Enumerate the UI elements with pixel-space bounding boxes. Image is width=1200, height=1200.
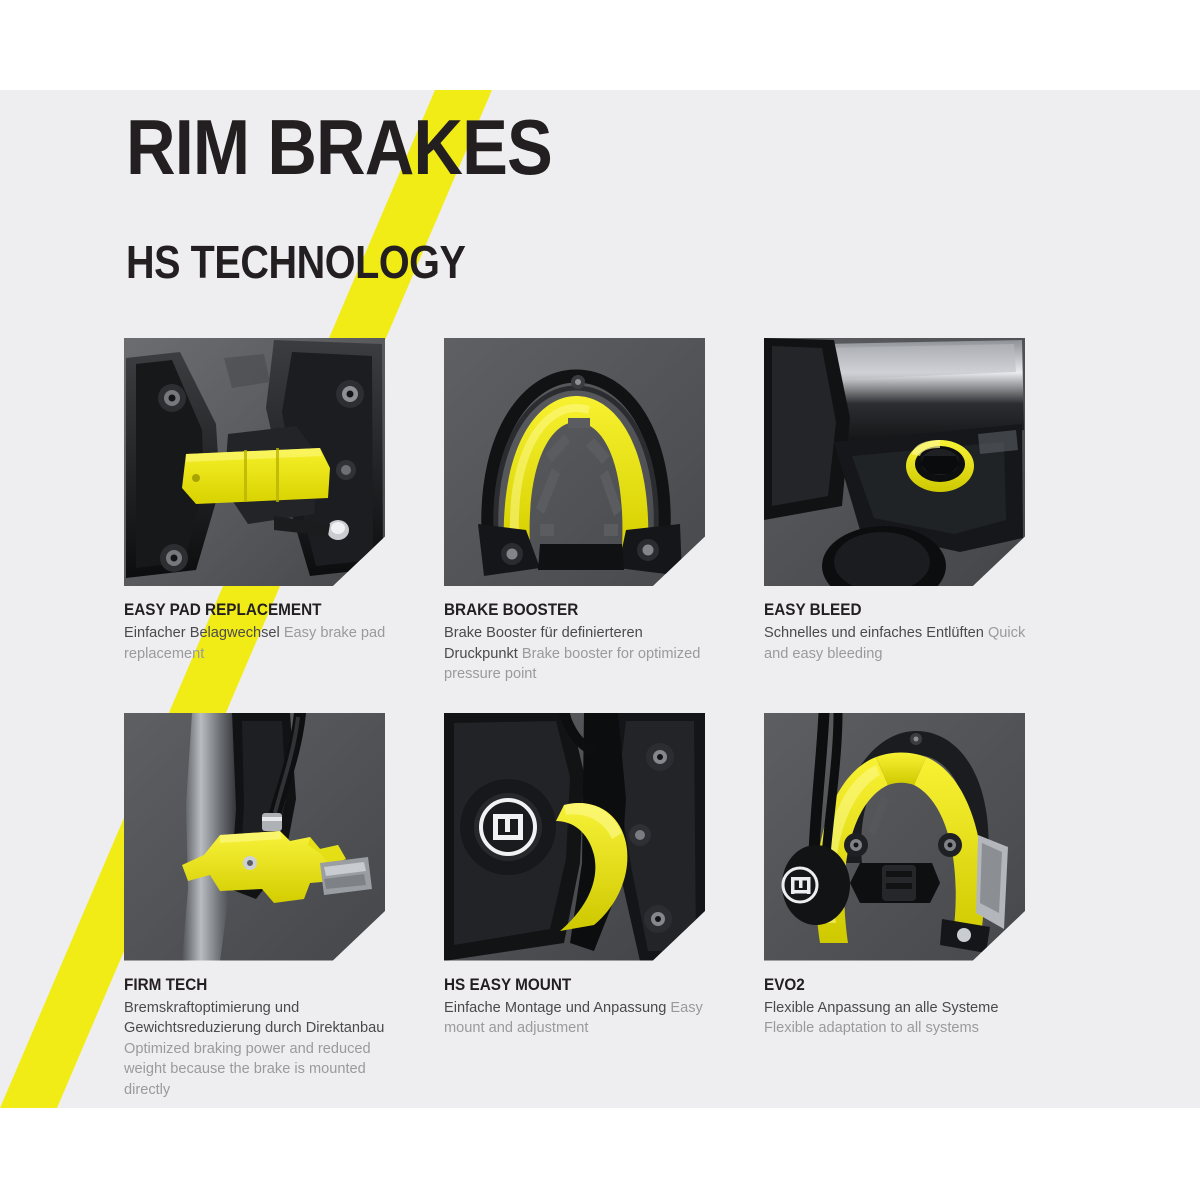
- feature-image-firm-tech[interactable]: [124, 713, 385, 961]
- feature-image-easy-pad-replacement[interactable]: [124, 338, 385, 586]
- content-panel: RIM BRAKES HS TECHNOLOGY: [0, 90, 1200, 1108]
- feature-title: HS EASY MOUNT: [444, 975, 692, 995]
- feature-card-easy-bleed[interactable]: EASY BLEED Schnelles und einfaches Entlü…: [764, 338, 1025, 685]
- feature-description: Flexible Anpassung an alle Systeme Flexi…: [764, 998, 1040, 1039]
- feature-image-brake-booster[interactable]: [444, 338, 705, 586]
- page-subtitle: HS TECHNOLOGY: [126, 237, 542, 287]
- feature-card-evo2[interactable]: EVO2 Flexible Anpassung an alle Systeme …: [764, 713, 1025, 1101]
- yellow-bleed-port-on-brake-lever-icon: [764, 338, 1025, 586]
- feature-title: BRAKE BOOSTER: [444, 600, 692, 620]
- feature-description-de: Schnelles und einfaches Entlüften: [764, 625, 984, 641]
- feature-description-en: Flexible adaptation to all systems: [764, 1020, 979, 1036]
- title-block: RIM BRAKES HS TECHNOLOGY: [126, 105, 610, 287]
- feature-title: EVO2: [764, 975, 1012, 995]
- yellow-firm-tech-mount-on-fork-icon: [124, 713, 385, 961]
- feature-title: FIRM TECH: [124, 975, 372, 995]
- feature-description-de: Flexible Anpassung an alle Systeme: [764, 1000, 998, 1016]
- feature-description-de: Einfacher Belagwechsel: [124, 625, 280, 641]
- feature-description: Bremskraftoptimierung und Gewichtsreduzi…: [124, 998, 400, 1101]
- feature-caption: BRAKE BOOSTER Brake Booster für definier…: [444, 600, 720, 685]
- panel-content: RIM BRAKES HS TECHNOLOGY: [0, 90, 1200, 1108]
- feature-image-evo2[interactable]: [764, 713, 1025, 961]
- feature-description-en: Optimized braking power and reduced weig…: [124, 1041, 371, 1098]
- feature-description: Einfache Montage und Anpassung Easy moun…: [444, 998, 720, 1039]
- rim-brake-caliper-with-yellow-brake-pad-icon: [124, 338, 385, 586]
- feature-card-firm-tech[interactable]: FIRM TECH Bremskraftoptimierung und Gewi…: [124, 713, 385, 1101]
- feature-grid: EASY PAD REPLACEMENT Einfacher Belagwech…: [124, 338, 1026, 1100]
- feature-description: Schnelles und einfaches Entlüften Quick …: [764, 623, 1040, 664]
- page-title: RIM BRAKES: [126, 105, 552, 189]
- feature-title: EASY BLEED: [764, 600, 1012, 620]
- feature-caption: HS EASY MOUNT Einfache Montage und Anpas…: [444, 975, 720, 1039]
- feature-caption: EASY BLEED Schnelles und einfaches Entlü…: [764, 600, 1040, 664]
- yellow-evo2-rim-brake-with-black-booster-icon: [764, 713, 1025, 961]
- feature-card-hs-easy-mount[interactable]: HS EASY MOUNT Einfache Montage und Anpas…: [444, 713, 705, 1101]
- feature-description: Brake Booster für definierteren Druckpun…: [444, 623, 720, 685]
- feature-description: Einfacher Belagwechsel Easy brake pad re…: [124, 623, 400, 664]
- feature-row: EASY PAD REPLACEMENT Einfacher Belagwech…: [124, 338, 1026, 685]
- feature-description-de: Bremskraftoptimierung und Gewichtsreduzi…: [124, 1000, 384, 1037]
- feature-row: FIRM TECH Bremskraftoptimierung und Gewi…: [124, 713, 1026, 1101]
- feature-caption: EASY PAD REPLACEMENT Einfacher Belagwech…: [124, 600, 400, 664]
- feature-card-brake-booster[interactable]: BRAKE BOOSTER Brake Booster für definier…: [444, 338, 705, 685]
- feature-image-easy-bleed[interactable]: [764, 338, 1025, 586]
- feature-caption: FIRM TECH Bremskraftoptimierung und Gewi…: [124, 975, 400, 1101]
- poster-page: RIM BRAKES HS TECHNOLOGY: [0, 0, 1200, 1200]
- feature-image-hs-easy-mount[interactable]: [444, 713, 705, 961]
- feature-title: EASY PAD REPLACEMENT: [124, 600, 372, 620]
- feature-description-de: Einfache Montage und Anpassung: [444, 1000, 666, 1016]
- brake-lever-with-magura-logo-and-yellow-clamp-icon: [444, 713, 705, 961]
- yellow-brake-booster-arch-icon: [444, 338, 705, 586]
- feature-card-easy-pad-replacement[interactable]: EASY PAD REPLACEMENT Einfacher Belagwech…: [124, 338, 385, 685]
- feature-caption: EVO2 Flexible Anpassung an alle Systeme …: [764, 975, 1040, 1039]
